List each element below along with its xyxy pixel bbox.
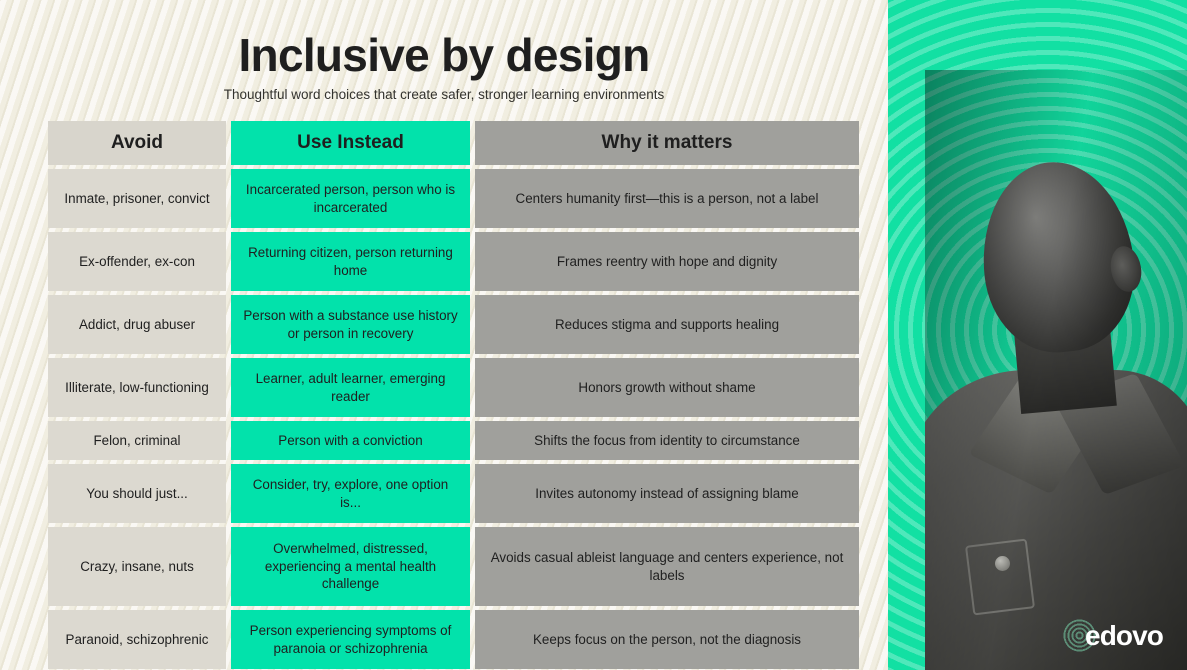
cell-why: Centers humanity first—this is a person,… bbox=[475, 169, 859, 228]
cell-why: Keeps focus on the person, not the diagn… bbox=[475, 610, 859, 669]
cell-use-instead: Person experiencing symptoms of paranoia… bbox=[231, 610, 470, 669]
table-header-row: Avoid Use Instead Why it matters bbox=[48, 121, 859, 165]
table-row: Crazy, insane, nuts Overwhelmed, distres… bbox=[48, 527, 859, 606]
cell-avoid: Paranoid, schizophrenic bbox=[48, 610, 226, 669]
cell-avoid: Inmate, prisoner, convict bbox=[48, 169, 226, 228]
slide-canvas: Inclusive by design Thoughtful word choi… bbox=[0, 0, 1187, 670]
cell-why: Invites autonomy instead of assigning bl… bbox=[475, 464, 859, 523]
cell-why: Frames reentry with hope and dignity bbox=[475, 232, 859, 291]
edovo-logo: edovo bbox=[1063, 619, 1163, 652]
portrait-photo bbox=[925, 70, 1187, 670]
right-accent-panel bbox=[888, 0, 1187, 670]
portrait-shading-overlay bbox=[925, 70, 1187, 670]
cell-use-instead: Person with a substance use history or p… bbox=[231, 295, 470, 354]
column-header-why-it-matters: Why it matters bbox=[475, 121, 859, 165]
cell-why: Reduces stigma and supports healing bbox=[475, 295, 859, 354]
cell-why: Honors growth without shame bbox=[475, 358, 859, 417]
page-title: Inclusive by design bbox=[0, 30, 888, 82]
table-row: Ex-offender, ex-con Returning citizen, p… bbox=[48, 232, 859, 291]
cell-use-instead: Incarcerated person, person who is incar… bbox=[231, 169, 470, 228]
table-row: Felon, criminal Person with a conviction… bbox=[48, 421, 859, 460]
cell-use-instead: Learner, adult learner, emerging reader bbox=[231, 358, 470, 417]
table-row: Addict, drug abuser Person with a substa… bbox=[48, 295, 859, 354]
cell-avoid: Addict, drug abuser bbox=[48, 295, 226, 354]
cell-use-instead: Overwhelmed, distressed, experiencing a … bbox=[231, 527, 470, 606]
table-row: Inmate, prisoner, convict Incarcerated p… bbox=[48, 169, 859, 228]
cell-why: Avoids casual ableist language and cente… bbox=[475, 527, 859, 606]
cell-use-instead: Consider, try, explore, one option is... bbox=[231, 464, 470, 523]
edovo-wordmark: edovo bbox=[1085, 622, 1163, 650]
table-row: Illiterate, low-functioning Learner, adu… bbox=[48, 358, 859, 417]
comparison-table: Avoid Use Instead Why it matters Inmate,… bbox=[48, 121, 859, 670]
cell-avoid: Ex-offender, ex-con bbox=[48, 232, 226, 291]
cell-avoid: Felon, criminal bbox=[48, 421, 226, 460]
cell-use-instead: Person with a conviction bbox=[231, 421, 470, 460]
table-row: You should just... Consider, try, explor… bbox=[48, 464, 859, 523]
cell-avoid: You should just... bbox=[48, 464, 226, 523]
column-header-use-instead: Use Instead bbox=[231, 121, 470, 165]
cell-why: Shifts the focus from identity to circum… bbox=[475, 421, 859, 460]
column-header-avoid: Avoid bbox=[48, 121, 226, 165]
table-row: Paranoid, schizophrenic Person experienc… bbox=[48, 610, 859, 669]
cell-avoid: Illiterate, low-functioning bbox=[48, 358, 226, 417]
cell-avoid: Crazy, insane, nuts bbox=[48, 527, 226, 606]
headline-block: Inclusive by design Thoughtful word choi… bbox=[0, 30, 888, 102]
page-subtitle: Thoughtful word choices that create safe… bbox=[0, 87, 888, 102]
cell-use-instead: Returning citizen, person returning home bbox=[231, 232, 470, 291]
